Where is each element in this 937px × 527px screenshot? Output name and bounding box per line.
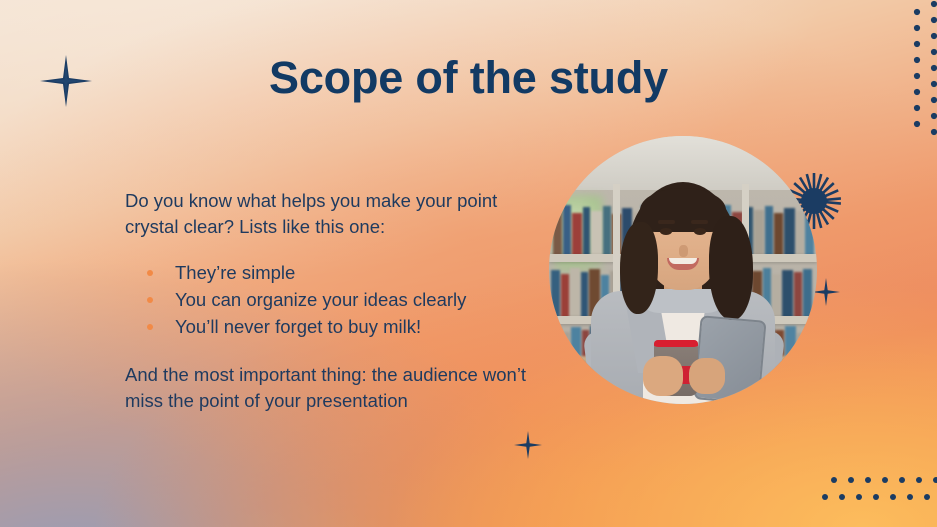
eyebrow-left: [658, 220, 675, 224]
bullet-list: They’re simple You can organize your ide…: [125, 260, 535, 340]
person-figure: [549, 136, 817, 404]
dot-rows-decoration: [820, 472, 937, 513]
list-item: You’ll never forget to buy milk!: [125, 314, 535, 340]
slide-title: Scope of the study: [0, 52, 937, 104]
hand-left: [643, 356, 683, 396]
hair-curl-right: [709, 216, 753, 320]
hair-top: [640, 188, 726, 232]
circular-photo: [549, 136, 817, 404]
presentation-slide: Scope of the study Do you know what help…: [0, 0, 937, 527]
list-item: They’re simple: [125, 260, 535, 286]
bullet-dot-icon: [147, 297, 153, 303]
photo-content: [549, 136, 817, 404]
slide-body: Do you know what helps you make your poi…: [125, 188, 535, 414]
bullet-dot-icon: [147, 324, 153, 330]
bullet-dot-icon: [147, 270, 153, 276]
four-point-star-icon: [514, 431, 542, 464]
list-item-label: You can organize your ideas clearly: [175, 289, 466, 310]
list-item: You can organize your ideas clearly: [125, 287, 535, 313]
hand-right: [689, 358, 725, 394]
list-item-label: You’ll never forget to buy milk!: [175, 316, 421, 337]
teeth: [669, 258, 697, 264]
intro-paragraph: Do you know what helps you make your poi…: [125, 188, 535, 240]
nose: [679, 245, 688, 257]
hair-curl-left: [620, 222, 658, 314]
eyebrow-right: [691, 220, 708, 224]
closing-paragraph: And the most important thing: the audien…: [125, 362, 535, 414]
cup-lid: [654, 340, 698, 347]
list-item-label: They’re simple: [175, 262, 295, 283]
